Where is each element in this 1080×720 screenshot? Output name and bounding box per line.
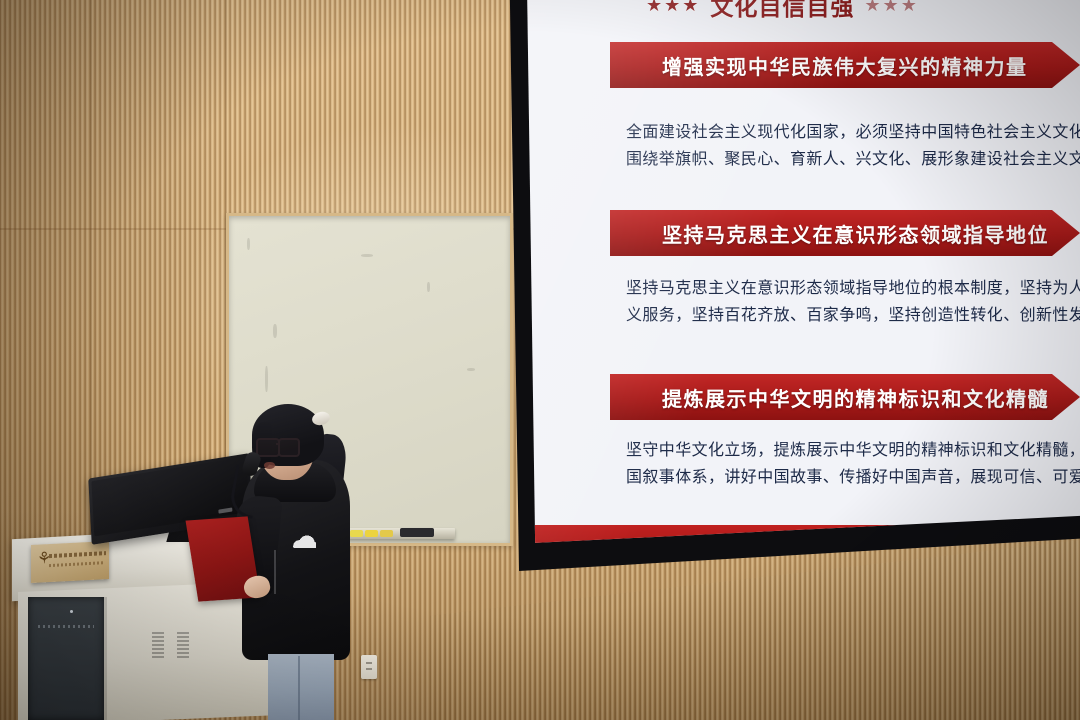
section-body-3-line-2: 国叙事体系，讲好中国故事、传播好中国声音，展现可信、可爱、可 [626,463,1080,490]
lectern-vent [177,632,189,658]
lectern-vent [152,632,164,658]
section-body-2: 坚持马克思主义在意识形态领域指导地位的根本制度，坚持为人民服 义服务，坚持百花齐… [626,274,1080,328]
section-body-3-line-1: 坚守中华文化立场，提炼展示中华文明的精神标识和文化精髓，加快 [626,436,1080,463]
section-body-1: 全面建设社会主义现代化国家，必须坚持中国特色社会主义文化发展 围绕举旗帜、聚民心… [626,118,1080,172]
wall-outlet[interactable] [361,655,377,679]
slide-title: 文化自信自强 [710,0,854,22]
hoodie-drawstring [274,550,276,594]
north-face-logo-icon [292,530,316,548]
slide-content: ★★★ 文化自信自强 ★★★ 增强实现中华民族伟大复兴的精神力量 全面建设社会主… [526,0,1080,526]
plaque-logo-icon: ⚘ [37,550,47,571]
section-body-1-line-1: 全面建设社会主义现代化国家，必须坚持中国特色社会主义文化发展 [626,118,1080,145]
section-body-2-line-1: 坚持马克思主义在意识形态领域指导地位的根本制度，坚持为人民服 [626,274,1080,301]
speaker [228,400,368,720]
projection-screen: ★★★ 文化自信自强 ★★★ 增强实现中华民族伟大复兴的精神力量 全面建设社会主… [512,0,1080,571]
jeans [268,654,334,720]
eraser-icon [400,528,434,537]
section-heading-1: 增强实现中华民族伟大复兴的精神力量 [662,51,1028,80]
rack-vent-strip [38,625,94,628]
jeans-seam [298,656,300,720]
section-banner-1: 增强实现中华民族伟大复兴的精神力量 [610,42,1080,88]
stars-right-icon: ★★★ [864,0,918,16]
slide-title-row: ★★★ 文化自信自强 ★★★ [646,0,919,22]
section-banner-2: 坚持马克思主义在意识形态领域指导地位 [610,210,1080,256]
section-heading-2: 坚持马克思主义在意识形态领域指导地位 [662,219,1049,248]
marker-icon [380,530,393,537]
glasses-icon [256,438,308,454]
lectern-plaque: ⚘ [31,541,109,583]
status-led-icon [70,610,73,613]
lectern-edge [104,597,107,720]
stars-left-icon: ★★★ [646,0,700,16]
plaque-text-line-2 [49,561,103,567]
mouth [264,462,275,469]
section-body-3: 坚守中华文化立场，提炼展示中华文明的精神标识和文化精髓，加快 国叙事体系，讲好中… [626,436,1080,490]
lectern-equipment-rack[interactable] [28,597,104,720]
plaque-text-line-1 [49,551,106,558]
section-banner-3: 提炼展示中华文明的精神标识和文化精髓 [610,374,1080,420]
section-body-1-line-2: 围绕举旗帜、聚民心、育新人、兴文化、展形象建设社会主义文化强 [626,145,1080,172]
lecture-hall-photo: ★★★ 文化自信自强 ★★★ 增强实现中华民族伟大复兴的精神力量 全面建设社会主… [0,0,1080,720]
section-heading-3: 提炼展示中华文明的精神标识和文化精髓 [662,383,1049,412]
section-body-2-line-2: 义服务，坚持百花齐放、百家争鸣，坚持创造性转化、创新性发展。 [626,301,1080,328]
